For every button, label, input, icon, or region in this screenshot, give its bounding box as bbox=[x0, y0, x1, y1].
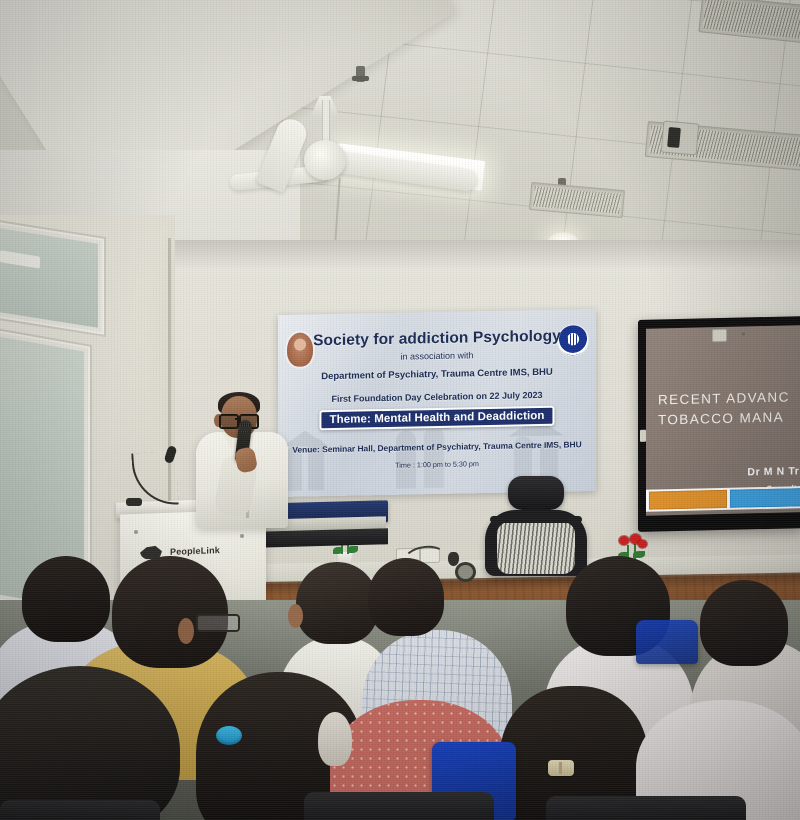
dark-auditorium-chair bbox=[304, 792, 494, 820]
podium-fastener bbox=[240, 534, 244, 538]
podium-fastener bbox=[134, 530, 138, 534]
screen-side-button bbox=[640, 430, 646, 442]
eyeglasses-icon bbox=[196, 614, 240, 632]
slide-presenter-name: Dr M N Trip bbox=[747, 465, 800, 478]
audience-member-hair bbox=[112, 556, 228, 668]
audience-member-hair bbox=[22, 556, 110, 642]
event-banner: Society for addiction Psychology in asso… bbox=[278, 309, 596, 497]
slide-title-line2: TOBACCO MANA bbox=[658, 406, 800, 430]
slide-screen: RECENT ADVANC TOBACCO MANA Dr M N Trip C… bbox=[646, 325, 800, 516]
chair-headrest bbox=[508, 476, 564, 510]
dark-auditorium-chair bbox=[0, 800, 160, 820]
fan-downrod bbox=[322, 100, 330, 144]
fire-sprinkler-icon bbox=[356, 66, 365, 82]
glasses-bridge bbox=[235, 418, 241, 420]
slide-orange-bar bbox=[649, 490, 727, 510]
gooseneck-mic-base bbox=[126, 498, 142, 506]
diffuser-grille bbox=[703, 0, 800, 39]
podium-brand-label: PeopleLink bbox=[170, 545, 220, 557]
screen-dot-icon bbox=[742, 332, 745, 335]
dark-auditorium-chair bbox=[546, 796, 746, 820]
hair-clip bbox=[548, 760, 574, 776]
slide-accent-bars bbox=[646, 486, 800, 512]
projector-display: RECENT ADVANC TOBACCO MANA Dr M N Trip C… bbox=[638, 316, 800, 532]
audience-member-ear bbox=[178, 618, 194, 644]
blue-hair-tie bbox=[216, 726, 242, 745]
audience-member-hair bbox=[296, 562, 378, 644]
screen-badge-icon bbox=[712, 329, 727, 342]
audience-member-ear bbox=[288, 604, 303, 628]
diffuser-grille bbox=[533, 186, 620, 213]
banner-theme: Theme: Mental Health and Deaddiction bbox=[329, 410, 544, 426]
ceiling-fan-icon bbox=[304, 140, 346, 180]
audience-member-hair bbox=[368, 558, 444, 636]
chair-top-rail bbox=[490, 516, 582, 523]
frosted-glass-window bbox=[0, 219, 106, 337]
audience-member-shoulder-edge bbox=[318, 712, 352, 766]
seminar-hall-photo: Society for addiction Psychology in asso… bbox=[0, 0, 800, 820]
cable-coil bbox=[455, 562, 476, 582]
audience-member-hair bbox=[700, 580, 788, 666]
wall-shadow bbox=[150, 240, 800, 270]
window-glass bbox=[0, 228, 98, 328]
ac-vent-opening bbox=[661, 120, 700, 155]
slide-blue-bar bbox=[730, 488, 800, 508]
chair-mesh-backrest bbox=[497, 522, 575, 574]
blue-stacking-chair bbox=[636, 620, 698, 664]
glasses-lens bbox=[219, 414, 239, 429]
